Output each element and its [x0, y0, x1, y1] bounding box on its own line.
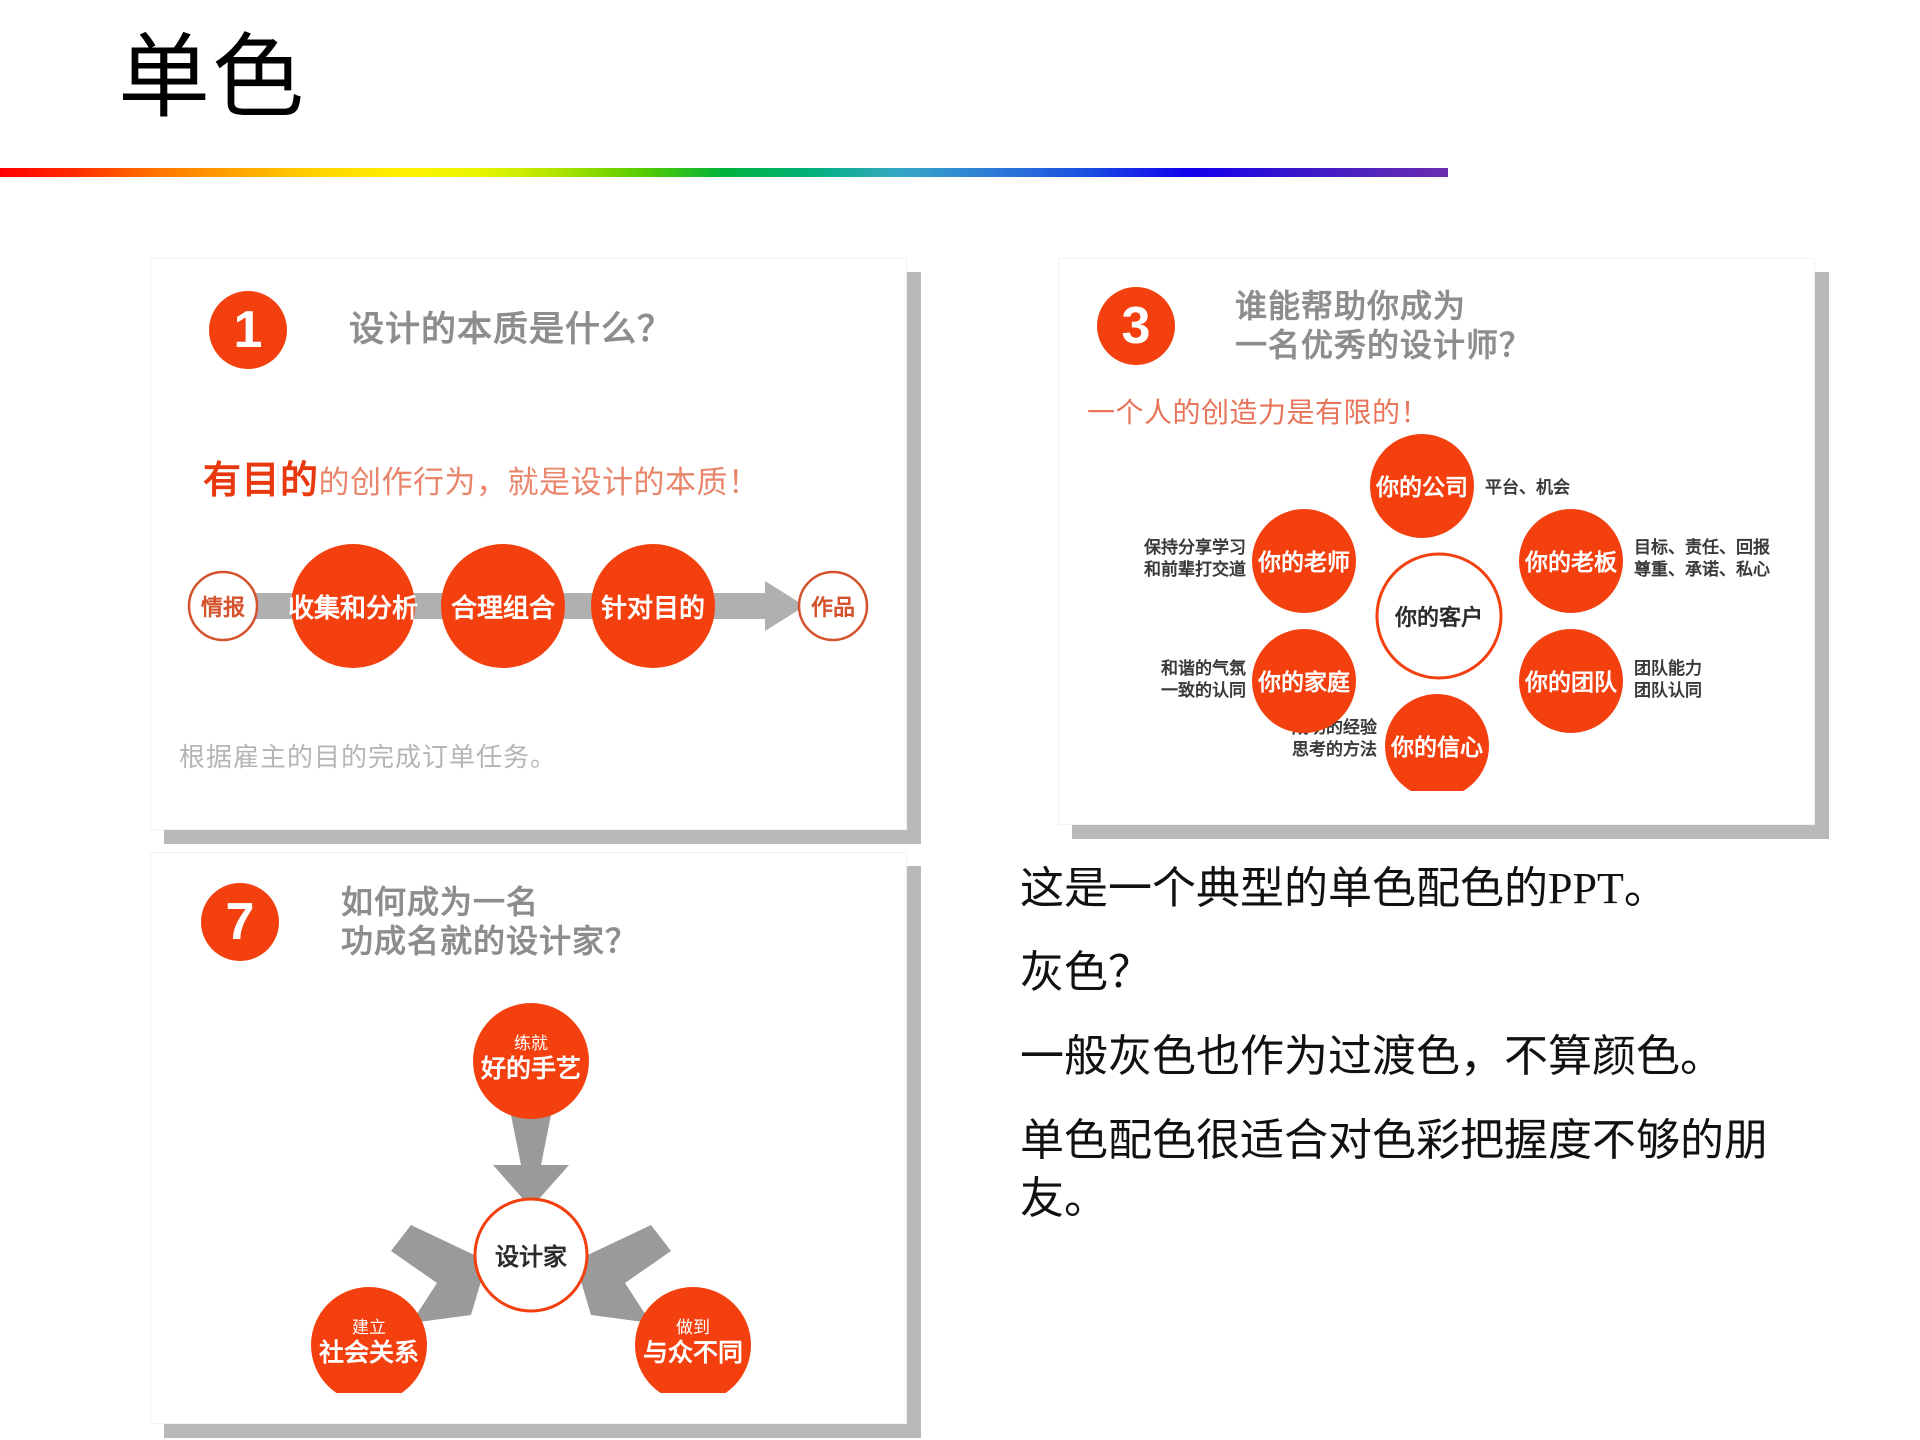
node-small-label-unique: 做到: [676, 1318, 710, 1337]
node-small-label-relations: 建立: [352, 1318, 386, 1337]
card-1-subtitle: 有目的的创作行为，就是设计的本质！: [203, 449, 760, 504]
card-1-question: 设计的本质是什么？: [349, 309, 673, 352]
center-label: 设计家: [495, 1243, 567, 1271]
card-7-question: 如何成为一名 功成名就的设计家？: [341, 883, 638, 961]
arrow-top-to-center: [493, 1105, 569, 1208]
flow-step-label-3: 针对目的: [601, 593, 705, 623]
card-7-number-badge: 7: [201, 883, 279, 961]
card-3-satellite-diagram: 你的客户 你的公司 平台、机会 你的老板 目标、责任、回报尊重、承诺、私心 你的…: [1089, 431, 1789, 791]
node-label-company: 你的公司: [1375, 474, 1468, 500]
node-label-confidence: 你的信心: [1390, 734, 1483, 760]
slide-thumbnail-card-1[interactable]: 1 设计的本质是什么？ 有目的的创作行为，就是设计的本质！ 情报 收集和分析 合…: [150, 258, 907, 830]
card-1-footnote: 根据雇主的目的完成订单任务。: [179, 737, 557, 774]
node-label-family: 你的家庭: [1257, 669, 1350, 695]
node-note-boss: 目标、责任、回报尊重、承诺、私心: [1634, 537, 1770, 579]
node-note-team: 团队能力团队认同: [1634, 658, 1702, 700]
node-small-label-craft: 练就: [514, 1034, 548, 1053]
center-label: 你的客户: [1394, 605, 1483, 630]
page-title: 单色: [118, 30, 306, 127]
card-3-lead-text: 一个人的创造力是有限的！: [1087, 391, 1429, 431]
node-big-label-unique: 与众不同: [643, 1339, 743, 1367]
card-3-number-badge: 3: [1097, 287, 1175, 365]
body-paragraph-4: 单色配色很适合对色彩把握度不够的朋友。: [1020, 1112, 1850, 1228]
node-label-team: 你的团队: [1524, 669, 1618, 695]
card-7-header: 7 如何成为一名 功成名就的设计家？: [201, 883, 638, 961]
slide-thumbnail-card-7[interactable]: 7 如何成为一名 功成名就的设计家？ 设计家 练就 好的手艺 建立 社会关系 做…: [150, 852, 907, 1424]
body-paragraph-1: 这是一个典型的单色配色的PPT。: [1020, 860, 1850, 918]
card-3-header: 3 谁能帮助你成为 一名优秀的设计师？: [1097, 287, 1532, 365]
card-1-subtitle-rest: 的创作行为，就是设计的本质！: [319, 465, 760, 500]
card-3-question: 谁能帮助你成为 一名优秀的设计师？: [1235, 287, 1532, 365]
card-1-header: 1 设计的本质是什么？: [209, 291, 673, 369]
body-copy: 这是一个典型的单色配色的PPT。 灰色？ 一般灰色也作为过渡色，不算颜色。 单色…: [1020, 860, 1850, 1254]
node-label-boss: 你的老板: [1524, 549, 1618, 575]
flow-end-label: 作品: [811, 595, 855, 620]
node-note-family: 和谐的气氛一致的认同: [1161, 658, 1246, 700]
flow-start-label: 情报: [201, 595, 245, 620]
node-note-company: 平台、机会: [1485, 477, 1570, 497]
card-7-triangle-diagram: 设计家 练就 好的手艺 建立 社会关系 做到 与众不同: [291, 993, 771, 1393]
rainbow-divider: [0, 168, 1448, 177]
card-1-number-badge: 1: [209, 291, 287, 369]
flow-step-label-1: 收集和分析: [288, 593, 418, 623]
card-1-subtitle-strong: 有目的: [203, 460, 319, 502]
node-label-teacher: 你的老师: [1257, 549, 1350, 575]
node-big-label-craft: 好的手艺: [480, 1054, 581, 1083]
slide-thumbnail-card-3[interactable]: 3 谁能帮助你成为 一名优秀的设计师？ 一个人的创造力是有限的！ 你的客户 你的…: [1058, 258, 1815, 825]
body-paragraph-3: 一般灰色也作为过渡色，不算颜色。: [1020, 1028, 1850, 1086]
node-big-label-relations: 社会关系: [319, 1338, 419, 1367]
card-1-process-flow: 情报 收集和分析 合理组合 针对目的 作品: [173, 541, 873, 671]
body-paragraph-2: 灰色？: [1020, 944, 1850, 1002]
node-note-teacher: 保持分享学习和前辈打交道: [1143, 537, 1246, 579]
flow-step-label-2: 合理组合: [451, 593, 556, 623]
